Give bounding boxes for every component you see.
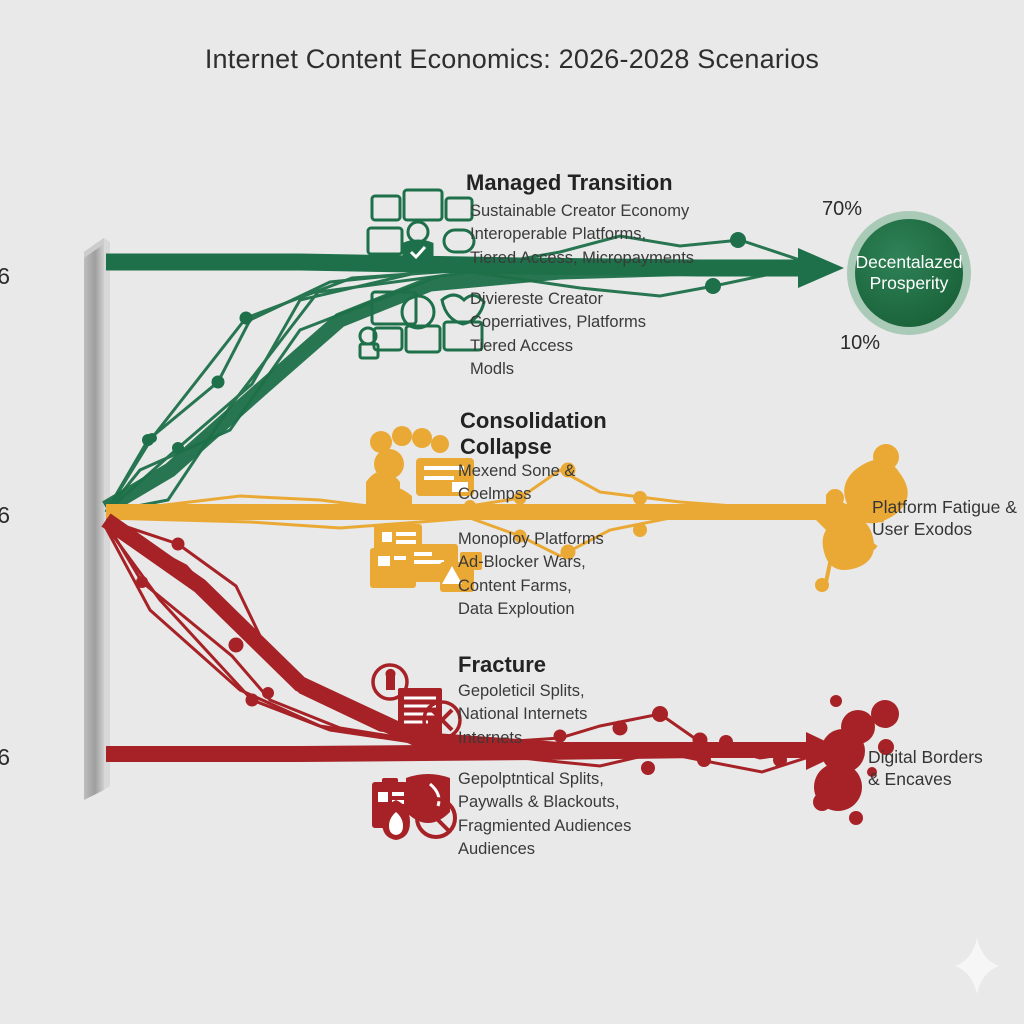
red-outcome-label: Digital Borders & Encaves	[868, 746, 983, 790]
text-line: Fragmiented Audiences	[458, 815, 631, 838]
green-detail-bottom: Diviereste Creator Coperriatives, Platfo…	[470, 288, 646, 382]
text-line: Tiered Access	[470, 335, 646, 358]
text-line: National Internets	[458, 703, 587, 726]
secure-platform-cards-icon	[368, 190, 474, 267]
green-arrowhead	[798, 248, 844, 288]
text-line: Interoperable Platforms,	[470, 223, 694, 246]
text-line: Monoploy Platforms	[458, 528, 604, 551]
axis-label-2026-top: 2026	[0, 263, 10, 290]
axis-label-2026-middle: 2026	[0, 502, 10, 529]
outcome-line-1: Digital Borders	[868, 746, 983, 768]
red-detail-bottom: Gepolptntical Splits, Paywalls & Blackou…	[458, 768, 631, 862]
axis-label-2026-bottom: 2026	[0, 744, 10, 771]
text-line: Paywalls & Blackouts,	[458, 791, 631, 814]
text-line: Gepoleticil Splits,	[458, 680, 587, 703]
text-line: Data Exploution	[458, 598, 604, 621]
text-line: Gepolptntical Splits,	[458, 768, 631, 791]
text-line: Tiered Access, Micropayments	[470, 247, 694, 270]
text-line: Internets	[458, 727, 587, 750]
probability-label-10: 10%	[840, 332, 880, 355]
scenario-heading-fracture: Fracture	[458, 652, 546, 678]
text-line: Content Farms,	[458, 575, 604, 598]
outcome-line-1: Platform Fatigue &	[872, 496, 1017, 518]
text-line: Sustainable Creator Economy	[470, 200, 694, 223]
yellow-detail-top: Mexend Sone & Coelmpss	[458, 460, 575, 507]
yellow-detail-bottom: Monoploy Platforms Ad-Blocker Wars, Cont…	[458, 528, 604, 622]
outcome-text: Decentalazed Prosperity	[855, 252, 962, 293]
text-line: Modls	[470, 358, 646, 381]
text-line: Coperriatives, Platforms	[470, 311, 646, 334]
outcome-line-2: User Exodos	[872, 518, 1017, 540]
scenario-diagram-canvas: Internet Content Economics: 2026-2028 Sc…	[0, 0, 1024, 1024]
probability-label-70: 70%	[822, 198, 862, 221]
scenario-heading-managed-transition: Managed Transition	[466, 170, 673, 196]
page-title: Internet Content Economics: 2026-2028 Sc…	[0, 44, 1024, 75]
red-detail-top: Gepoleticil Splits, National Internets I…	[458, 680, 587, 750]
sparkle-star-icon	[955, 938, 999, 994]
outcome-line-2: & Encaves	[868, 768, 983, 790]
clipboard-fire-blocked-icon	[372, 774, 455, 840]
scenario-heading-consolidation-collapse: Consolidation Collapse	[460, 408, 660, 459]
diagram-vector-layer	[0, 0, 1024, 1024]
green-detail-top: Sustainable Creator Economy Interoperabl…	[470, 200, 694, 270]
text-line: Coelmpss	[458, 483, 575, 506]
green-outcome-label: Decentalazed Prosperity	[840, 252, 978, 295]
text-line: Mexend Sone &	[458, 460, 575, 483]
text-line: Ad-Blocker Wars,	[458, 551, 604, 574]
text-line: Diviereste Creator	[470, 288, 646, 311]
text-line: Audiences	[458, 838, 631, 861]
yellow-outcome-label: Platform Fatigue & User Exodos	[872, 496, 1017, 540]
